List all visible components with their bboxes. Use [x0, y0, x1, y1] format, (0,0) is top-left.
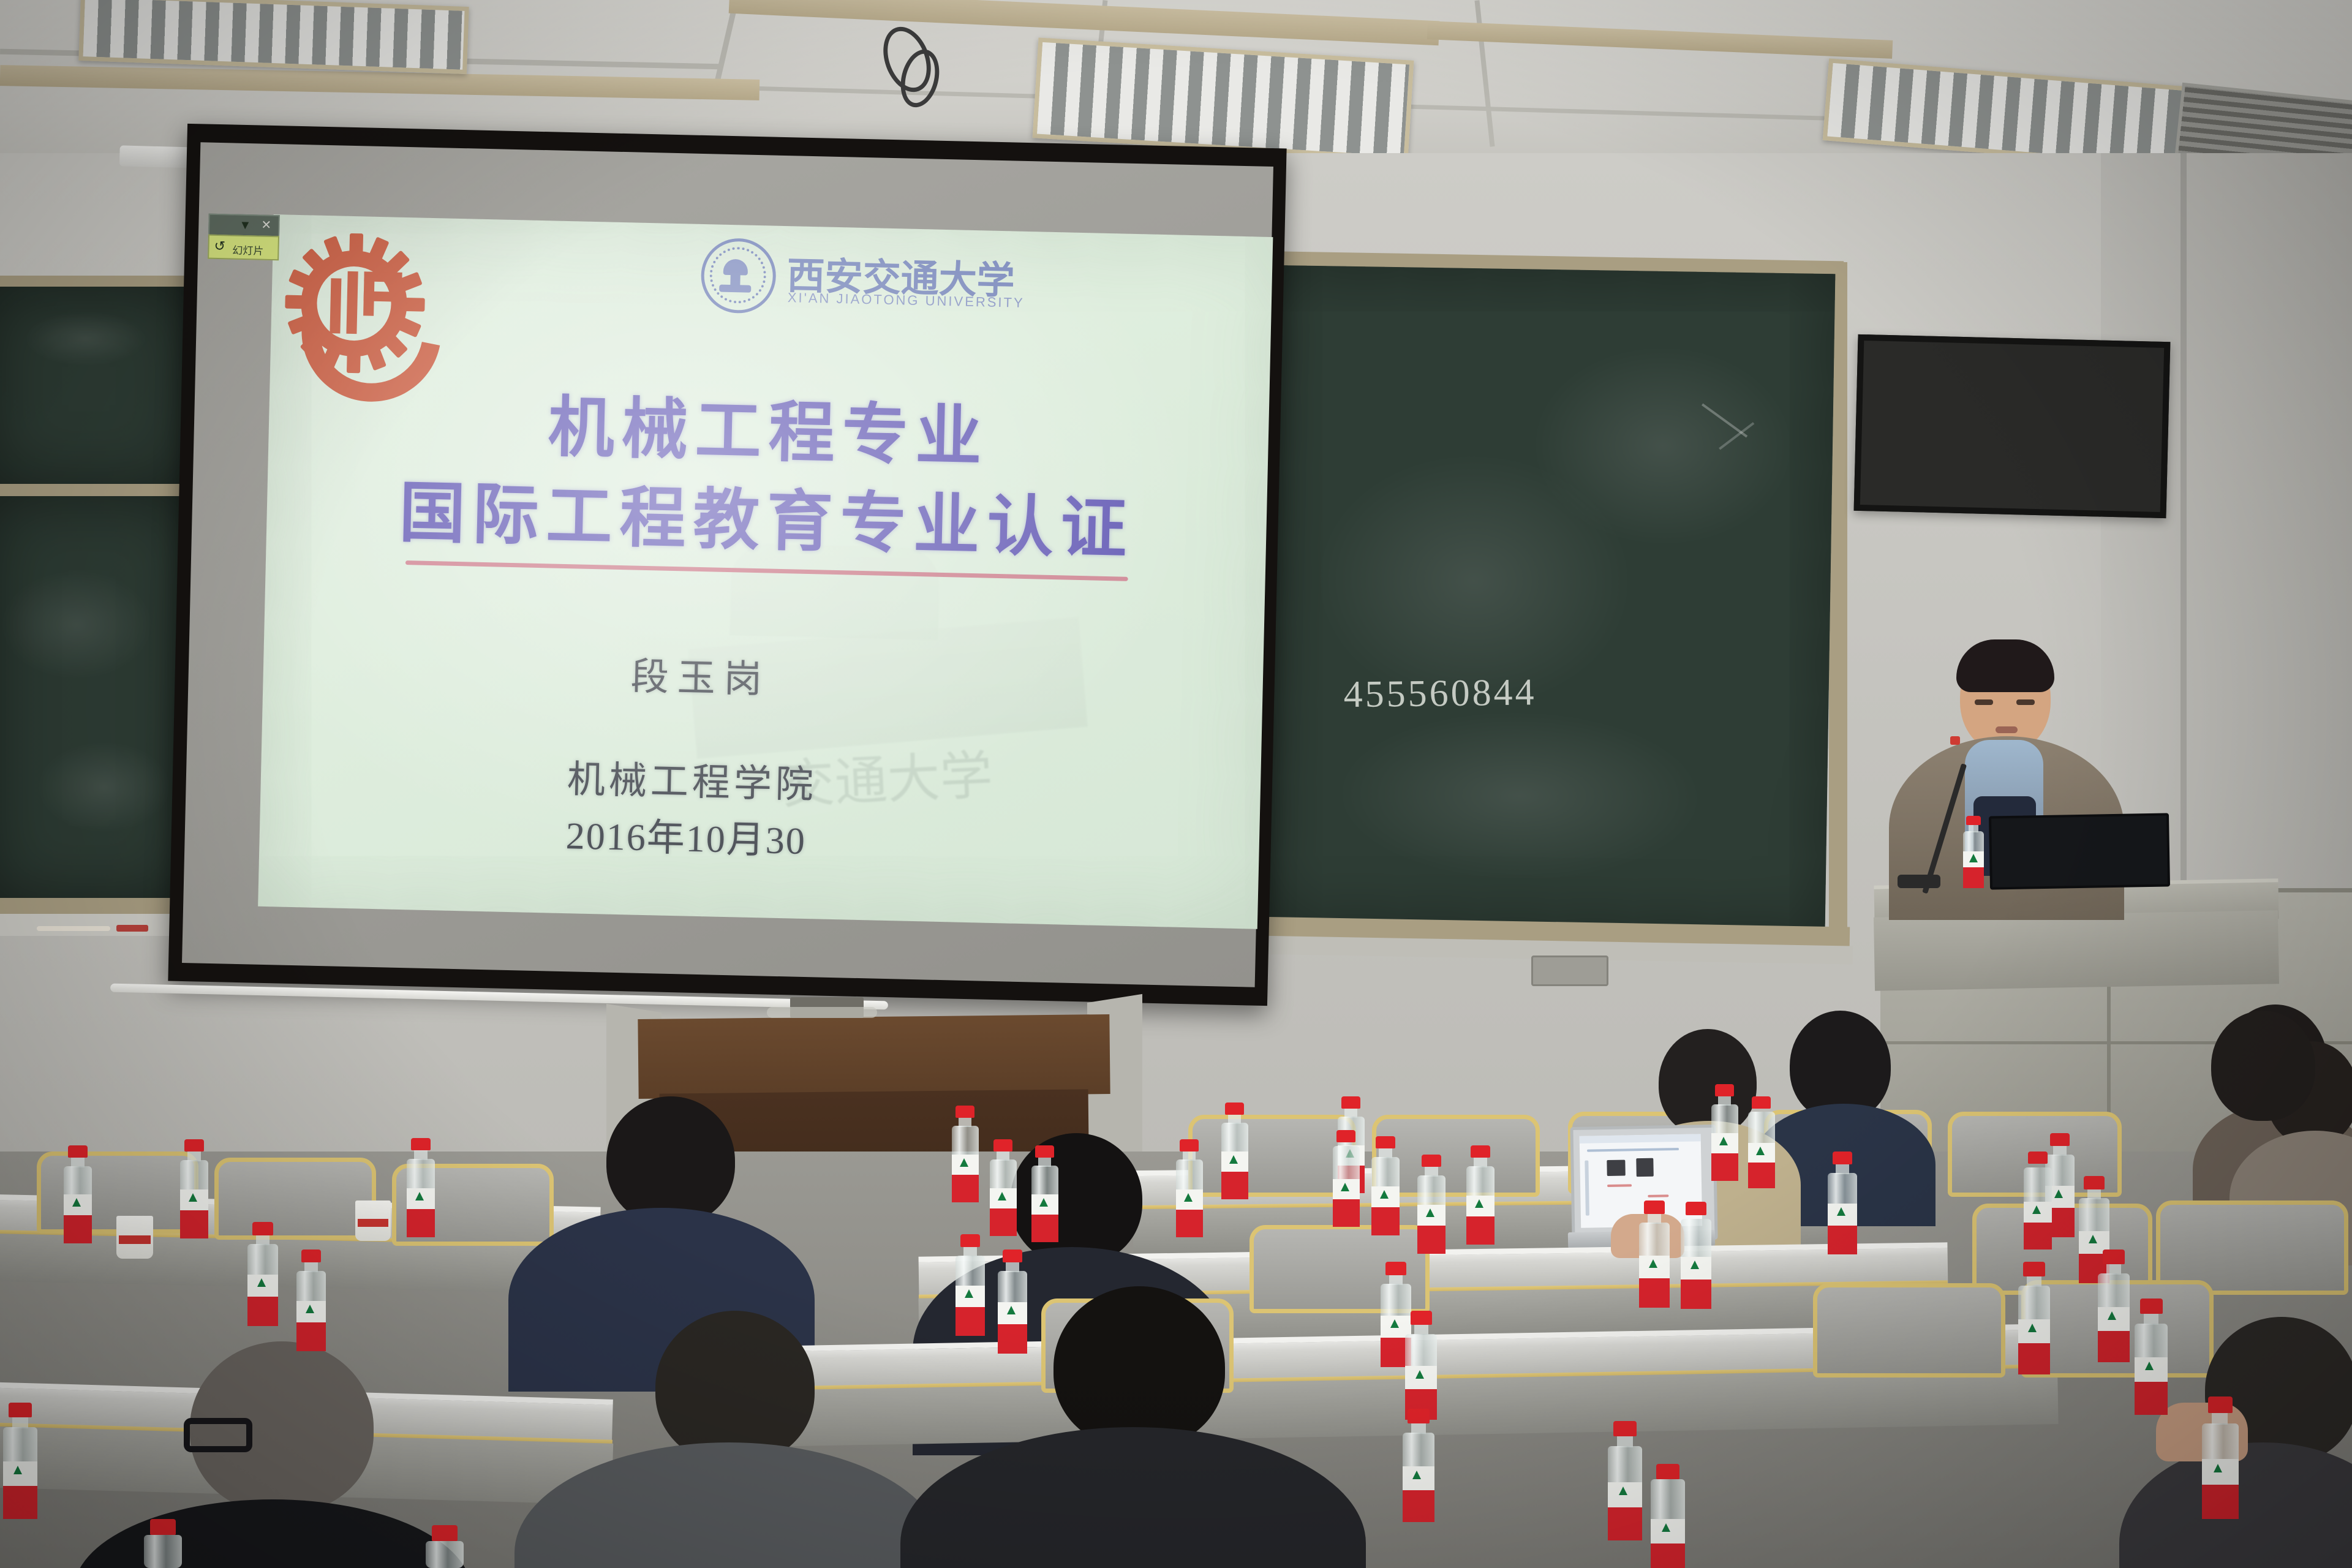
water-bottle[interactable] — [1400, 1409, 1438, 1522]
wall-mounted-display — [1854, 334, 2171, 518]
person-head — [2211, 1011, 2315, 1121]
water-bottle[interactable] — [423, 1525, 467, 1568]
undo-icon[interactable]: ↺ — [214, 239, 225, 253]
chalkboard-lower-left — [0, 496, 190, 900]
water-bottle[interactable] — [1369, 1136, 1402, 1235]
chalkboard-upper-left — [0, 287, 190, 486]
water-bottle[interactable] — [953, 1234, 987, 1336]
water-bottle[interactable] — [1174, 1139, 1205, 1237]
water-bottle[interactable] — [1746, 1096, 1777, 1188]
water-bottle[interactable] — [245, 1222, 281, 1326]
person-head — [655, 1311, 815, 1464]
water-bottle[interactable] — [1029, 1145, 1061, 1242]
chalkboard-frame — [0, 276, 190, 288]
water-bottle[interactable] — [1637, 1200, 1672, 1308]
projector-screen: 西安交通大学 XI'AN JIAOTONG UNIVERSITY 交通大学 机械… — [168, 124, 1286, 1006]
lecture-hall-scene: 455560844 — [0, 0, 2352, 1568]
presenter-hair — [1956, 639, 2054, 692]
ppt-toolbar-label: 幻灯片 — [232, 242, 264, 258]
water-bottle[interactable] — [1464, 1145, 1497, 1245]
slide-presenter: 段玉岗 — [630, 645, 771, 703]
water-bottle[interactable] — [1219, 1102, 1251, 1199]
auditorium-chair[interactable] — [214, 1158, 376, 1240]
water-bottle[interactable] — [1605, 1421, 1645, 1540]
person-head — [1659, 1029, 1757, 1136]
water-bottle[interactable] — [1825, 1151, 1860, 1254]
person-head — [1053, 1286, 1225, 1449]
water-bottle[interactable] — [1678, 1202, 1714, 1309]
wall-vent-small — [1531, 956, 1608, 986]
slide-department: 机械工程学院 — [567, 748, 818, 809]
person-torso — [73, 1499, 472, 1568]
person-torso — [900, 1427, 1366, 1568]
water-bottle[interactable] — [2015, 1262, 2053, 1374]
water-bottle[interactable] — [1961, 816, 1986, 888]
university-seal-base — [719, 285, 751, 293]
water-bottle[interactable] — [2199, 1396, 2242, 1519]
paper-cup[interactable] — [116, 1216, 153, 1259]
person-head — [190, 1341, 374, 1513]
water-bottle[interactable] — [1648, 1464, 1688, 1568]
water-bottle[interactable] — [61, 1145, 94, 1243]
lectern-top — [638, 1014, 1110, 1099]
mechanical-engineering-gear-icon — [284, 233, 424, 374]
chalk-stick — [37, 926, 110, 931]
person-torso — [514, 1442, 943, 1568]
water-bottle[interactable] — [1330, 1130, 1362, 1227]
auditorium-chair[interactable] — [1813, 1283, 2005, 1378]
water-bottle[interactable] — [141, 1519, 185, 1568]
lectern-glass — [767, 1007, 877, 1018]
person-head — [606, 1096, 735, 1225]
chalkboard-frame — [0, 898, 196, 914]
lapel-mic-clip — [1950, 736, 1960, 745]
water-bottle[interactable] — [987, 1139, 1019, 1236]
water-bottle[interactable] — [0, 1403, 40, 1519]
water-bottle[interactable] — [2021, 1151, 2054, 1249]
water-bottle[interactable] — [178, 1139, 211, 1238]
close-icon[interactable]: ✕ — [261, 219, 271, 232]
water-bottle[interactable] — [1415, 1155, 1448, 1254]
water-bottle[interactable] — [949, 1106, 981, 1202]
eyeglasses-icon — [184, 1418, 252, 1452]
audience-person — [514, 1311, 943, 1568]
chalkboard-frame — [0, 484, 190, 497]
water-bottle[interactable] — [2131, 1298, 2171, 1415]
chalk-eraser — [116, 925, 148, 932]
chevron-down-icon[interactable]: ▼ — [239, 219, 251, 232]
audience-person — [2168, 1005, 2352, 1164]
audience-person — [80, 1341, 459, 1568]
water-bottle[interactable] — [1709, 1084, 1741, 1181]
water-bottle[interactable] — [404, 1138, 437, 1237]
chalkboard-main: 455560844 — [1261, 265, 1836, 935]
microphone-base — [1898, 875, 1940, 888]
water-bottle[interactable] — [1403, 1311, 1439, 1420]
chalk-number: 455560844 — [1343, 671, 1537, 717]
ppt-toolbar-secondary[interactable]: ↺ 幻灯片 — [208, 235, 279, 261]
chalk-tray — [0, 914, 196, 936]
water-bottle[interactable] — [2095, 1249, 2133, 1362]
water-bottle[interactable] — [294, 1249, 328, 1351]
presentation-slide: 西安交通大学 XI'AN JIAOTONG UNIVERSITY 交通大学 机械… — [258, 214, 1273, 929]
control-console-face — [1874, 910, 2279, 991]
slide-date: 2016年10月30 — [565, 804, 807, 865]
paper-cup[interactable] — [355, 1200, 391, 1241]
water-bottle[interactable] — [995, 1249, 1030, 1354]
presenter-laptop[interactable] — [1989, 813, 2170, 889]
